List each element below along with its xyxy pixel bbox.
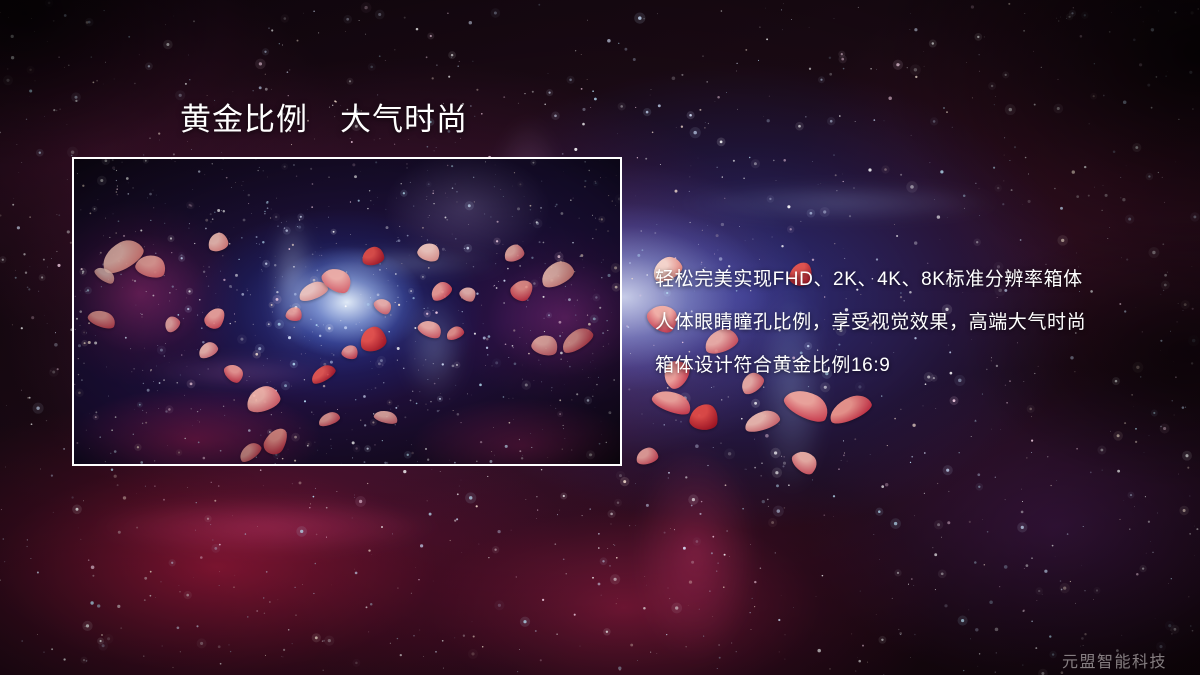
flower-petal bbox=[742, 407, 782, 434]
nebula-photo-panel bbox=[72, 157, 622, 466]
body-line-1: 轻松完美实现FHD、2K、4K、8K标准分辨率箱体 bbox=[655, 258, 1175, 301]
flower-petal bbox=[688, 402, 719, 432]
panel-vignette bbox=[74, 159, 620, 464]
body-line-3: 箱体设计符合黄金比例16:9 bbox=[655, 344, 1175, 387]
slide-canvas: 黄金比例 大气时尚 轻松完美实现FHD、2K、4K、8K标准分辨率箱体 人体眼睛… bbox=[0, 0, 1200, 675]
flower-petal bbox=[635, 446, 660, 466]
flower-petal bbox=[789, 446, 822, 478]
flower-petal bbox=[781, 383, 834, 428]
body-line-2: 人体眼睛瞳孔比例，享受视觉效果，高端大气时尚 bbox=[655, 301, 1175, 344]
company-watermark: 元盟智能科技 bbox=[1062, 648, 1167, 672]
flower-petal bbox=[650, 385, 695, 419]
flower-petal bbox=[825, 391, 874, 428]
slide-body-text: 轻松完美实现FHD、2K、4K、8K标准分辨率箱体 人体眼睛瞳孔比例，享受视觉效… bbox=[655, 258, 1175, 387]
slide-title: 黄金比例 大气时尚 bbox=[180, 102, 468, 138]
